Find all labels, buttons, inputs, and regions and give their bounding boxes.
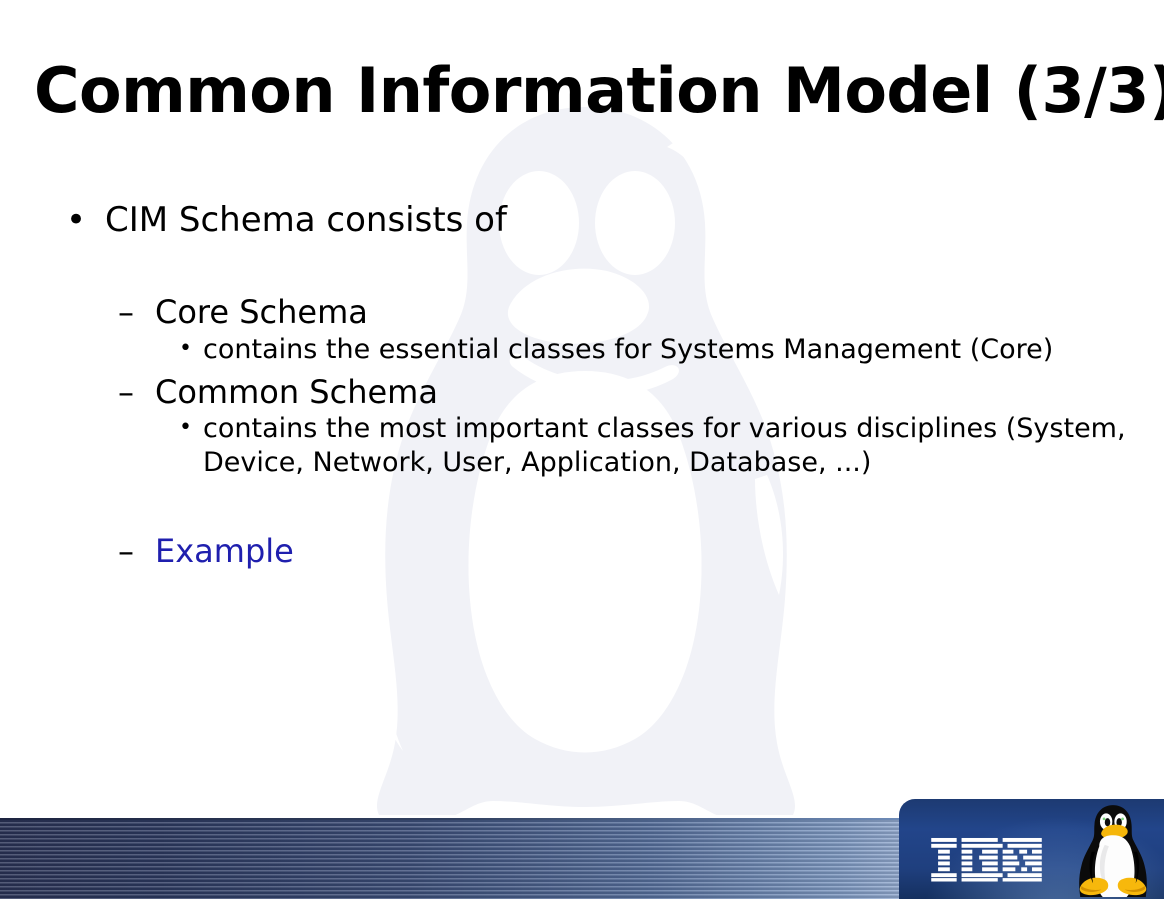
bullet-level1-cim-schema: • CIM Schema consists of bbox=[66, 200, 1164, 241]
bullet-marker-dot-icon: • bbox=[179, 332, 192, 366]
bullet-level3-common-description: • contains the most important classes fo… bbox=[179, 412, 1164, 480]
slide-title: Common Information Model (3/3) bbox=[34, 58, 1134, 123]
bullet-level3-core-description: • contains the essential classes for Sys… bbox=[179, 333, 1164, 367]
bullet-marker-dot-icon: • bbox=[179, 411, 192, 445]
footer-bar-top-edge bbox=[0, 818, 905, 820]
bullet-text: Common Schema bbox=[155, 373, 438, 411]
bullet-level2-common-schema: – Common Schema bbox=[118, 373, 1164, 412]
bullet-level2-core-schema: – Core Schema bbox=[118, 293, 1164, 332]
slide: Common Information Model (3/3) • CIM Sch… bbox=[0, 0, 1164, 899]
footer-stripe-bar bbox=[0, 818, 905, 899]
bullet-marker-dot-icon: • bbox=[66, 200, 86, 241]
bullet-level2-example-link[interactable]: – Example bbox=[118, 532, 1164, 571]
bullet-marker-dash-icon: – bbox=[118, 532, 134, 571]
ibm-logo-panel bbox=[899, 799, 1164, 899]
bullet-marker-dash-icon: – bbox=[118, 373, 134, 412]
ibm-logo-icon bbox=[929, 837, 1044, 882]
slide-body: • CIM Schema consists of – Core Schema •… bbox=[0, 200, 1164, 571]
tux-penguin-logo-icon bbox=[1071, 801, 1155, 897]
bullet-text: contains the essential classes for Syste… bbox=[203, 334, 1053, 365]
example-hyperlink[interactable]: Example bbox=[155, 532, 294, 570]
bullet-text: Core Schema bbox=[155, 293, 368, 331]
bullet-marker-dash-icon: – bbox=[118, 293, 134, 332]
spacer bbox=[0, 241, 1164, 293]
bullet-text: contains the most important classes for … bbox=[203, 413, 1126, 478]
spacer bbox=[0, 480, 1164, 532]
bullet-text: CIM Schema consists of bbox=[105, 200, 507, 240]
